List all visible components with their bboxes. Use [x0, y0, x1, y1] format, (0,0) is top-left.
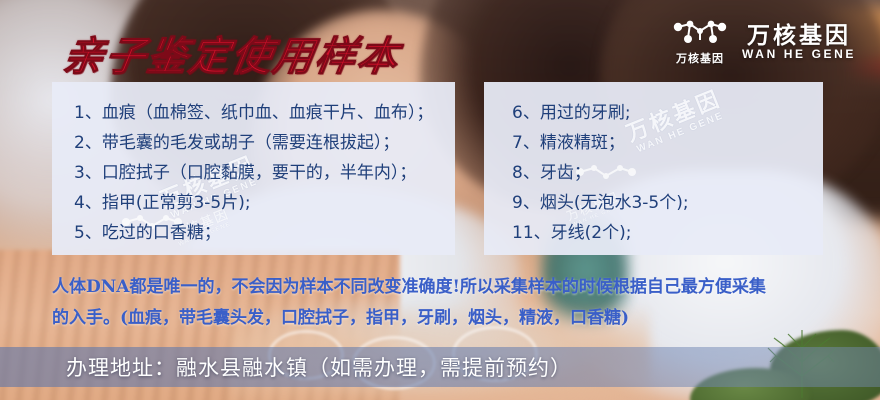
list-item: 7、精液精斑；: [484, 128, 823, 158]
list-item: 11、牙线(2个);: [484, 218, 823, 248]
logo-mark-label: 万核基因: [676, 50, 724, 66]
sample-list-right: 6、用过的牙刷; 7、精液精斑； 8、牙齿； 9、烟头(无泡水3-5个); 11…: [484, 82, 823, 248]
logo-brand-en: WAN HE GENE: [742, 48, 856, 62]
list-item: 9、烟头(无泡水3-5个);: [484, 188, 823, 218]
sample-list-panel-left: 万核基因 WAN HE GENE 万核基因 WAN HE GENE 1、血痕（血…: [52, 82, 455, 255]
address-text: 办理地址：融水县融水镇（如需办理，需提前预约）: [66, 352, 572, 382]
list-item: 1、血痕（血棉签、纸巾血、血痕干片、血布）；: [52, 98, 455, 128]
accuracy-note-line-1: 人体DNA都是唯一的，不会因为样本不同改变准确度!所以采集样本的时候根据自己最方…: [52, 272, 842, 303]
list-item: 4、指甲(正常剪3-5片);: [52, 188, 455, 218]
accuracy-note-line-2: 的入手。(血痕，带毛囊头发，口腔拭子，指甲，牙刷，烟头，精液，口香糖): [52, 303, 842, 334]
sample-list-left: 1、血痕（血棉签、纸巾血、血痕干片、血布）； 2、带毛囊的毛发或胡子（需要连根拔…: [52, 82, 455, 248]
list-item: 6、用过的牙刷;: [484, 98, 823, 128]
logo-wordmark: 万核基因 WAN HE GENE: [742, 22, 856, 62]
logo-mark: 万核基因: [670, 18, 730, 66]
list-item: 5、吃过的口香糖；: [52, 218, 455, 248]
page-title: 亲子鉴定使用样本: [59, 24, 404, 82]
promo-banner: 亲子鉴定使用样本 万核基因 万核基: [0, 0, 880, 400]
list-item: 2、带毛囊的毛发或胡子（需要连根拔起）；: [52, 128, 455, 158]
accuracy-note: 人体DNA都是唯一的，不会因为样本不同改变准确度!所以采集样本的时候根据自己最方…: [52, 272, 842, 334]
brand-logo: 万核基因 万核基因 WAN HE GENE: [670, 18, 856, 66]
logo-brand-cn: 万核基因: [747, 22, 851, 48]
list-item: 3、口腔拭子（口腔黏膜，要干的，半年内）；: [52, 158, 455, 188]
sample-list-panel-right: 万核基因 WAN HE GENE 万核基因 WAN HE GENE 6、用过的牙…: [484, 82, 823, 255]
address-bar: 办理地址：融水县融水镇（如需办理，需提前预约）: [0, 347, 880, 387]
molecule-nodes-icon: [670, 18, 730, 48]
list-item: 8、牙齿；: [484, 158, 823, 188]
